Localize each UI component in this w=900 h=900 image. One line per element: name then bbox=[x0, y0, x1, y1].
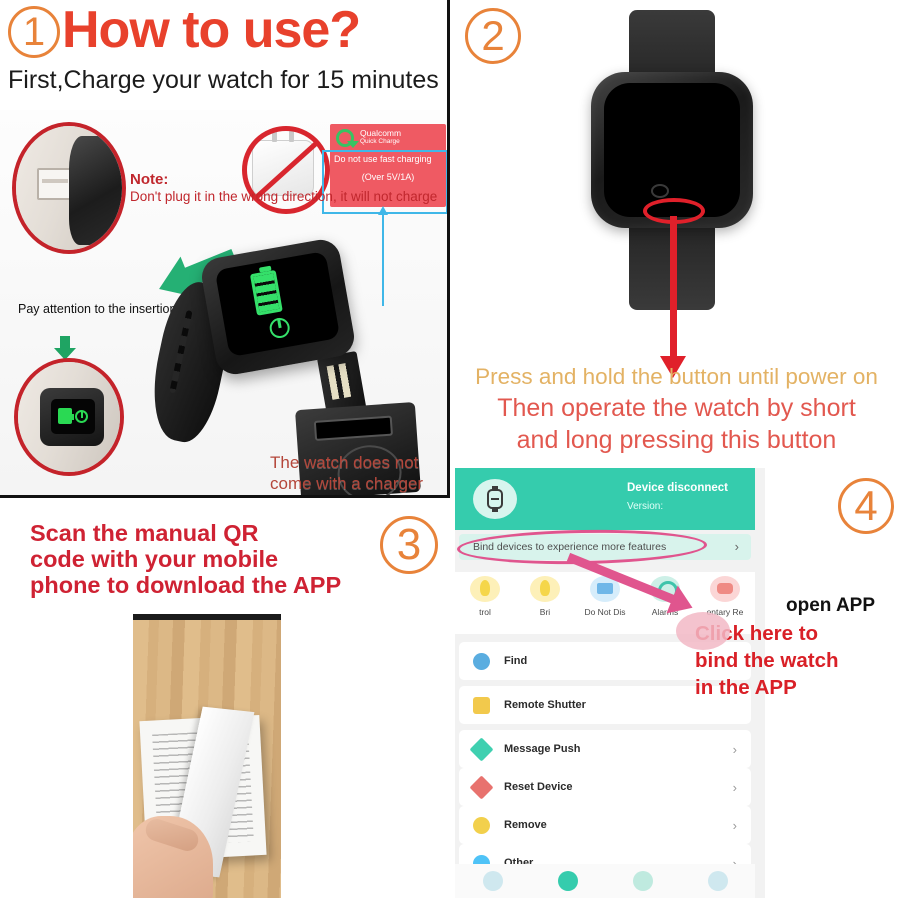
quick-action-label: trol bbox=[456, 607, 514, 617]
find-icon bbox=[473, 653, 490, 670]
watch-glyph-icon bbox=[487, 489, 503, 509]
watch-screen bbox=[215, 251, 341, 357]
green-arrow-down-icon bbox=[60, 336, 70, 348]
chevron-right-icon: › bbox=[733, 818, 737, 833]
usb-correct-direction-photo bbox=[14, 358, 124, 476]
watch-body bbox=[199, 237, 357, 378]
page-title: How to use? bbox=[62, 0, 360, 60]
watch-avatar-icon bbox=[473, 479, 517, 519]
qualcomm-sub: Quick Charge bbox=[360, 138, 400, 145]
red-arrow-down-icon bbox=[670, 216, 677, 356]
qualcomm-brand: Qualcomm bbox=[360, 128, 401, 138]
manual-paper-photo bbox=[133, 614, 281, 898]
step-number-4: 4 bbox=[838, 478, 894, 534]
nav-icon-1[interactable] bbox=[483, 871, 503, 891]
usb-port bbox=[37, 168, 73, 200]
chevron-right-icon: › bbox=[733, 742, 737, 757]
watch-plugged-in bbox=[40, 388, 103, 445]
message-push-icon bbox=[469, 737, 493, 761]
sedentary-reminder-icon bbox=[710, 576, 740, 602]
power-icon bbox=[75, 410, 88, 423]
nav-icon-4[interactable] bbox=[708, 871, 728, 891]
step-number-1: 1 bbox=[8, 6, 60, 58]
note-block: Note: Don't plug it in the wrong directi… bbox=[130, 172, 437, 205]
reset-icon bbox=[469, 775, 493, 799]
click-line-3: in the APP bbox=[695, 674, 900, 701]
menu-item-remove[interactable]: Remove › bbox=[459, 806, 751, 844]
click-line-2: bind the watch bbox=[695, 647, 900, 674]
lamp-icon bbox=[470, 576, 500, 602]
app-header: Device disconnect Version: bbox=[455, 468, 755, 530]
panel-step-1: 1 How to use? First,Charge your watch fo… bbox=[0, 0, 450, 498]
menu-label: Message Push bbox=[504, 743, 580, 755]
panel3-heading: Scan the manual QR code with your mobile… bbox=[30, 520, 390, 598]
no-charger-note: The watch does not come with a charger bbox=[270, 452, 447, 494]
menu-label: Find bbox=[504, 655, 527, 667]
watch-face-dots bbox=[491, 498, 499, 500]
nav-icon-3[interactable] bbox=[633, 871, 653, 891]
usb-correct-inner bbox=[18, 362, 120, 472]
panel1-subtitle: First,Charge your watch for 15 minutes bbox=[8, 64, 439, 96]
usb-wrong-direction-photo bbox=[12, 122, 126, 254]
operate-line-1: Then operate the watch by short bbox=[453, 392, 900, 424]
watch-charging-photo: The watch does not come with a charger bbox=[150, 230, 447, 495]
note-title: Note: bbox=[130, 172, 437, 188]
watch-mini-screen bbox=[51, 399, 95, 434]
chevron-right-icon: › bbox=[733, 780, 737, 795]
panel-step-2: 2 Press and hold the button until power … bbox=[453, 0, 900, 462]
open-app-annotation: open APP bbox=[786, 595, 875, 617]
press-hold-instruction: Press and hold the button until power on bbox=[453, 363, 900, 391]
watch-home-button[interactable] bbox=[651, 184, 669, 198]
battery-icon bbox=[58, 408, 72, 424]
operate-instruction: Then operate the watch by short and long… bbox=[453, 392, 900, 456]
watch-display bbox=[604, 83, 740, 217]
menu-label: Remove bbox=[504, 819, 547, 831]
quick-action-label: Bri bbox=[516, 607, 574, 617]
power-symbol-icon bbox=[268, 316, 291, 339]
note-body: Don't plug it in the wrong direction, it… bbox=[130, 189, 437, 204]
watch-dongle bbox=[69, 136, 126, 245]
panel3-heading-line-3: phone to download the APP bbox=[30, 572, 390, 598]
unlink-icon bbox=[473, 817, 490, 834]
charging-photo-collage: Qualcomm Quick Charge Do not use fast ch… bbox=[0, 110, 447, 495]
smartwatch-front-photo bbox=[571, 10, 771, 310]
step-number-3: 3 bbox=[380, 516, 438, 574]
step-number-2: 2 bbox=[465, 8, 521, 64]
camera-icon bbox=[473, 697, 490, 714]
device-status-label: Device disconnect bbox=[627, 482, 728, 494]
panel3-heading-line-2: code with your mobile bbox=[30, 546, 390, 572]
menu-item-message-push[interactable]: Message Push › bbox=[459, 730, 751, 768]
brightness-icon bbox=[530, 576, 560, 602]
nav-icon-2[interactable] bbox=[558, 871, 578, 891]
app-bottom-nav bbox=[455, 864, 755, 898]
operate-line-2: and long pressing this button bbox=[453, 424, 900, 456]
panel3-heading-line-1: Scan the manual QR bbox=[30, 520, 390, 546]
usb-photo-inner bbox=[16, 126, 122, 250]
chevron-right-icon: › bbox=[735, 539, 739, 554]
menu-label: Remote Shutter bbox=[504, 699, 586, 711]
qualcomm-logo-icon bbox=[336, 129, 354, 147]
version-label: Version: bbox=[627, 501, 663, 512]
instruction-infographic: 1 How to use? First,Charge your watch fo… bbox=[0, 0, 900, 900]
menu-item-reset-device[interactable]: Reset Device › bbox=[459, 768, 751, 806]
quick-action-item[interactable]: Bri bbox=[516, 576, 574, 634]
quick-action-item[interactable]: trol bbox=[456, 576, 514, 634]
menu-label: Reset Device bbox=[504, 781, 573, 793]
quick-action-label: Do Not Dis bbox=[576, 607, 634, 617]
battery-charging-icon bbox=[250, 270, 283, 316]
